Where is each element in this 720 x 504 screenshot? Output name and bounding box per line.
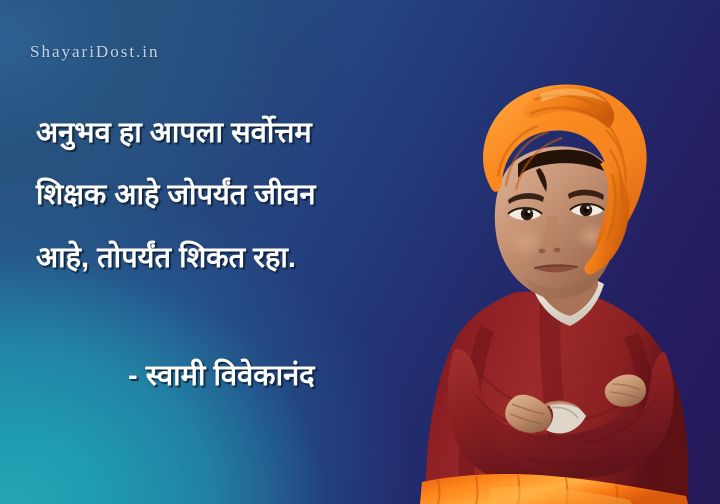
quote-poster: ShayariDost.in	[0, 0, 720, 504]
quote-line-2: शिक्षक आहे जोपर्यंत जीवन	[36, 180, 456, 211]
quote-attribution: - स्वामी विवेकानंद	[128, 355, 315, 394]
nostril-right	[554, 248, 561, 253]
quote-line-3: आहे, तोपर्यंत शिकत रहा.	[36, 243, 456, 274]
quote-text-block: अनुभव हा आपला सर्वोत्तम शिक्षक आहे जोपर्…	[36, 118, 456, 305]
portrait-swami-vivekananda	[420, 64, 720, 504]
watermark-text: ShayariDost.in	[30, 42, 160, 62]
nostril-left	[539, 249, 546, 254]
cheek-left	[506, 226, 546, 258]
quote-line-1: अनुभव हा आपला सर्वोत्तम	[36, 118, 456, 149]
portrait-svg	[420, 64, 720, 504]
